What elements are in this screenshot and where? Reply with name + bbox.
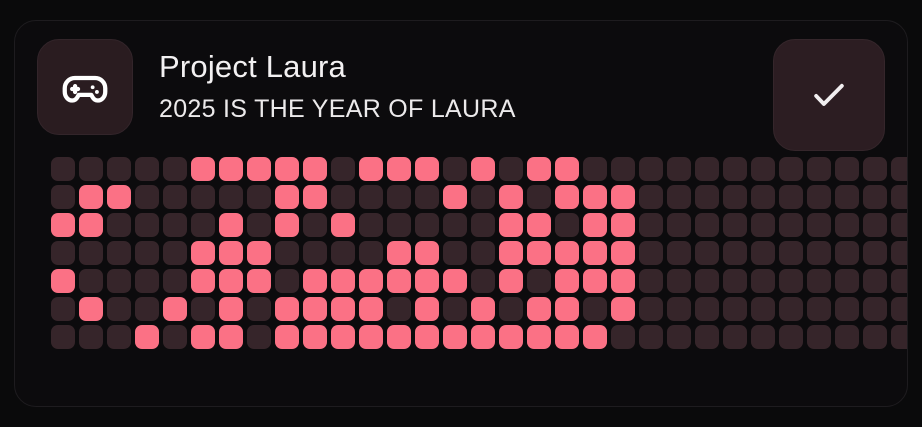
led-dot xyxy=(891,241,907,265)
led-dot xyxy=(79,269,103,293)
led-dot xyxy=(695,157,719,181)
led-dot xyxy=(611,185,635,209)
led-dot xyxy=(891,185,907,209)
led-dot xyxy=(443,325,467,349)
led-dot xyxy=(891,325,907,349)
led-dot xyxy=(135,185,159,209)
led-dot xyxy=(51,185,75,209)
led-dot xyxy=(555,241,579,265)
led-dot xyxy=(415,241,439,265)
led-dot xyxy=(807,269,831,293)
led-dot xyxy=(51,325,75,349)
led-dot xyxy=(611,241,635,265)
led-dot xyxy=(555,157,579,181)
led-dot xyxy=(667,269,691,293)
led-dot xyxy=(107,185,131,209)
led-dot xyxy=(191,297,215,321)
led-dot xyxy=(331,325,355,349)
led-dot xyxy=(695,185,719,209)
project-card: Project Laura 2025 IS THE YEAR OF LAURA xyxy=(14,20,908,407)
led-dot xyxy=(779,325,803,349)
led-dot xyxy=(275,213,299,237)
led-dot xyxy=(247,325,271,349)
led-dot xyxy=(555,185,579,209)
led-dot xyxy=(135,297,159,321)
led-dot xyxy=(751,185,775,209)
led-dot xyxy=(695,241,719,265)
led-dot xyxy=(359,185,383,209)
led-dot xyxy=(667,157,691,181)
led-dot xyxy=(331,185,355,209)
led-dot xyxy=(527,325,551,349)
led-dot xyxy=(303,269,327,293)
led-dot xyxy=(499,185,523,209)
led-dot xyxy=(303,185,327,209)
led-dot xyxy=(639,157,663,181)
led-dot xyxy=(611,213,635,237)
led-dot xyxy=(863,213,887,237)
led-dot xyxy=(303,157,327,181)
led-dot xyxy=(331,157,355,181)
led-dot xyxy=(695,297,719,321)
led-dot xyxy=(471,325,495,349)
led-dot xyxy=(667,185,691,209)
led-dot xyxy=(639,185,663,209)
led-dot xyxy=(415,213,439,237)
led-dot xyxy=(527,213,551,237)
app-icon-tile[interactable] xyxy=(37,39,133,135)
led-dot xyxy=(415,157,439,181)
led-dot xyxy=(779,297,803,321)
led-dot xyxy=(247,185,271,209)
led-dot xyxy=(471,269,495,293)
led-dot xyxy=(443,157,467,181)
led-dot xyxy=(555,269,579,293)
led-dot xyxy=(779,157,803,181)
confirm-button[interactable] xyxy=(773,39,885,151)
led-dot xyxy=(359,269,383,293)
led-dot xyxy=(499,269,523,293)
led-dot xyxy=(443,269,467,293)
led-dot xyxy=(835,157,859,181)
led-dot xyxy=(247,157,271,181)
card-header: Project Laura 2025 IS THE YEAR OF LAURA xyxy=(15,21,907,153)
led-dot xyxy=(219,185,243,209)
led-dot xyxy=(275,157,299,181)
led-dot xyxy=(107,157,131,181)
game-controller-icon xyxy=(58,60,112,114)
led-dot xyxy=(191,185,215,209)
led-dot xyxy=(51,213,75,237)
led-dot xyxy=(135,269,159,293)
led-dot xyxy=(247,269,271,293)
led-dot xyxy=(863,185,887,209)
led-dot xyxy=(219,213,243,237)
led-dot xyxy=(639,241,663,265)
led-dot xyxy=(807,241,831,265)
led-dot xyxy=(611,157,635,181)
led-dot xyxy=(751,297,775,321)
led-dot xyxy=(303,241,327,265)
led-dot xyxy=(135,241,159,265)
led-dot xyxy=(79,185,103,209)
led-dot xyxy=(331,297,355,321)
led-dot xyxy=(387,157,411,181)
led-dot xyxy=(695,325,719,349)
led-dot xyxy=(443,213,467,237)
led-dot xyxy=(639,297,663,321)
led-dot xyxy=(611,297,635,321)
led-dot xyxy=(527,297,551,321)
led-dot xyxy=(555,213,579,237)
led-dot xyxy=(639,269,663,293)
led-dot xyxy=(723,241,747,265)
led-dot xyxy=(695,213,719,237)
led-dot xyxy=(415,297,439,321)
led-dot xyxy=(583,213,607,237)
led-dot xyxy=(863,297,887,321)
led-dot xyxy=(443,241,467,265)
led-dot xyxy=(331,269,355,293)
led-dot xyxy=(667,213,691,237)
led-dot xyxy=(275,241,299,265)
led-dot xyxy=(891,269,907,293)
led-dot xyxy=(639,325,663,349)
led-dot xyxy=(807,157,831,181)
led-dot xyxy=(79,241,103,265)
led-dot xyxy=(611,325,635,349)
led-dot xyxy=(415,325,439,349)
led-dot xyxy=(303,325,327,349)
led-dot xyxy=(191,325,215,349)
led-dot xyxy=(891,297,907,321)
led-dot xyxy=(275,325,299,349)
led-dot xyxy=(415,269,439,293)
led-dot xyxy=(51,241,75,265)
led-dot xyxy=(807,213,831,237)
led-dot xyxy=(51,157,75,181)
led-dot xyxy=(219,325,243,349)
led-dot xyxy=(527,185,551,209)
led-dot xyxy=(723,325,747,349)
led-dot xyxy=(639,213,663,237)
led-dot xyxy=(107,213,131,237)
led-dot xyxy=(303,297,327,321)
led-dot xyxy=(835,297,859,321)
led-dot xyxy=(471,157,495,181)
led-dot xyxy=(527,269,551,293)
led-dot xyxy=(387,241,411,265)
led-dot xyxy=(807,185,831,209)
led-dot xyxy=(247,297,271,321)
led-dot xyxy=(219,157,243,181)
led-dot xyxy=(471,213,495,237)
led-dot xyxy=(471,185,495,209)
led-dot xyxy=(499,241,523,265)
led-dot xyxy=(863,241,887,265)
card-subtitle: 2025 IS THE YEAR OF LAURA xyxy=(159,91,773,127)
led-dot-matrix xyxy=(51,157,907,349)
led-dot xyxy=(163,185,187,209)
led-dot xyxy=(79,325,103,349)
led-dot xyxy=(247,213,271,237)
led-dot xyxy=(443,297,467,321)
led-dot xyxy=(135,213,159,237)
led-dot xyxy=(751,325,775,349)
led-dot xyxy=(751,157,775,181)
card-titles: Project Laura 2025 IS THE YEAR OF LAURA xyxy=(133,39,773,127)
led-dot xyxy=(387,185,411,209)
led-dot xyxy=(359,241,383,265)
led-dot xyxy=(135,325,159,349)
led-dot xyxy=(555,325,579,349)
led-dot xyxy=(835,241,859,265)
led-dot xyxy=(51,297,75,321)
led-dot xyxy=(387,297,411,321)
led-dot xyxy=(499,325,523,349)
led-dot xyxy=(667,325,691,349)
led-dot xyxy=(667,241,691,265)
led-dot xyxy=(331,213,355,237)
led-dot xyxy=(499,213,523,237)
led-dot xyxy=(807,297,831,321)
led-dot xyxy=(387,269,411,293)
led-dot xyxy=(723,185,747,209)
led-dot xyxy=(723,157,747,181)
led-dot xyxy=(135,157,159,181)
led-dot xyxy=(751,241,775,265)
led-dot xyxy=(107,269,131,293)
led-dot xyxy=(583,325,607,349)
led-dot xyxy=(219,269,243,293)
check-icon xyxy=(807,73,851,117)
led-dot xyxy=(583,269,607,293)
led-dot xyxy=(387,213,411,237)
led-dot xyxy=(583,185,607,209)
led-dot xyxy=(583,297,607,321)
led-dot xyxy=(191,157,215,181)
led-dot xyxy=(303,213,327,237)
led-dot xyxy=(79,157,103,181)
led-dot xyxy=(695,269,719,293)
led-dot xyxy=(359,213,383,237)
led-dot xyxy=(863,157,887,181)
led-dot xyxy=(863,325,887,349)
led-dot xyxy=(247,241,271,265)
led-dot xyxy=(723,297,747,321)
led-dot xyxy=(471,241,495,265)
led-dot xyxy=(583,157,607,181)
led-dot xyxy=(723,213,747,237)
led-dot xyxy=(723,269,747,293)
led-dot xyxy=(163,325,187,349)
led-dot xyxy=(107,325,131,349)
led-dot xyxy=(555,297,579,321)
led-dot xyxy=(275,185,299,209)
led-dot xyxy=(471,297,495,321)
led-dot xyxy=(163,241,187,265)
led-dot xyxy=(359,297,383,321)
led-dot xyxy=(219,297,243,321)
led-dot xyxy=(499,297,523,321)
led-dot xyxy=(751,213,775,237)
led-dot xyxy=(191,241,215,265)
led-dot xyxy=(499,157,523,181)
led-dot xyxy=(807,325,831,349)
led-dot xyxy=(891,157,907,181)
led-dot xyxy=(163,213,187,237)
led-dot xyxy=(527,157,551,181)
led-dot xyxy=(163,269,187,293)
led-dot xyxy=(219,241,243,265)
led-dot xyxy=(359,157,383,181)
led-dot xyxy=(331,241,355,265)
led-dot xyxy=(387,325,411,349)
led-dot xyxy=(779,185,803,209)
led-dot xyxy=(79,297,103,321)
led-dot xyxy=(835,325,859,349)
led-dot xyxy=(163,157,187,181)
led-dot xyxy=(527,241,551,265)
led-dot xyxy=(779,241,803,265)
app-screen: Project Laura 2025 IS THE YEAR OF LAURA xyxy=(0,0,922,427)
led-dot xyxy=(891,213,907,237)
led-dot xyxy=(191,213,215,237)
led-dot xyxy=(359,325,383,349)
led-dot xyxy=(275,269,299,293)
led-dot xyxy=(107,241,131,265)
led-dot xyxy=(835,269,859,293)
led-dot xyxy=(583,241,607,265)
led-dot xyxy=(779,213,803,237)
led-dot xyxy=(51,269,75,293)
led-dot xyxy=(835,185,859,209)
led-dot xyxy=(751,269,775,293)
led-dot xyxy=(779,269,803,293)
led-dot xyxy=(107,297,131,321)
led-dot xyxy=(275,297,299,321)
led-dot xyxy=(667,297,691,321)
led-dot xyxy=(163,297,187,321)
led-dot xyxy=(191,269,215,293)
led-dot xyxy=(835,213,859,237)
led-matrix-container xyxy=(15,157,907,369)
led-dot xyxy=(443,185,467,209)
page-title: Project Laura xyxy=(159,47,773,87)
led-dot xyxy=(611,269,635,293)
led-dot xyxy=(79,213,103,237)
led-dot xyxy=(415,185,439,209)
led-dot xyxy=(863,269,887,293)
